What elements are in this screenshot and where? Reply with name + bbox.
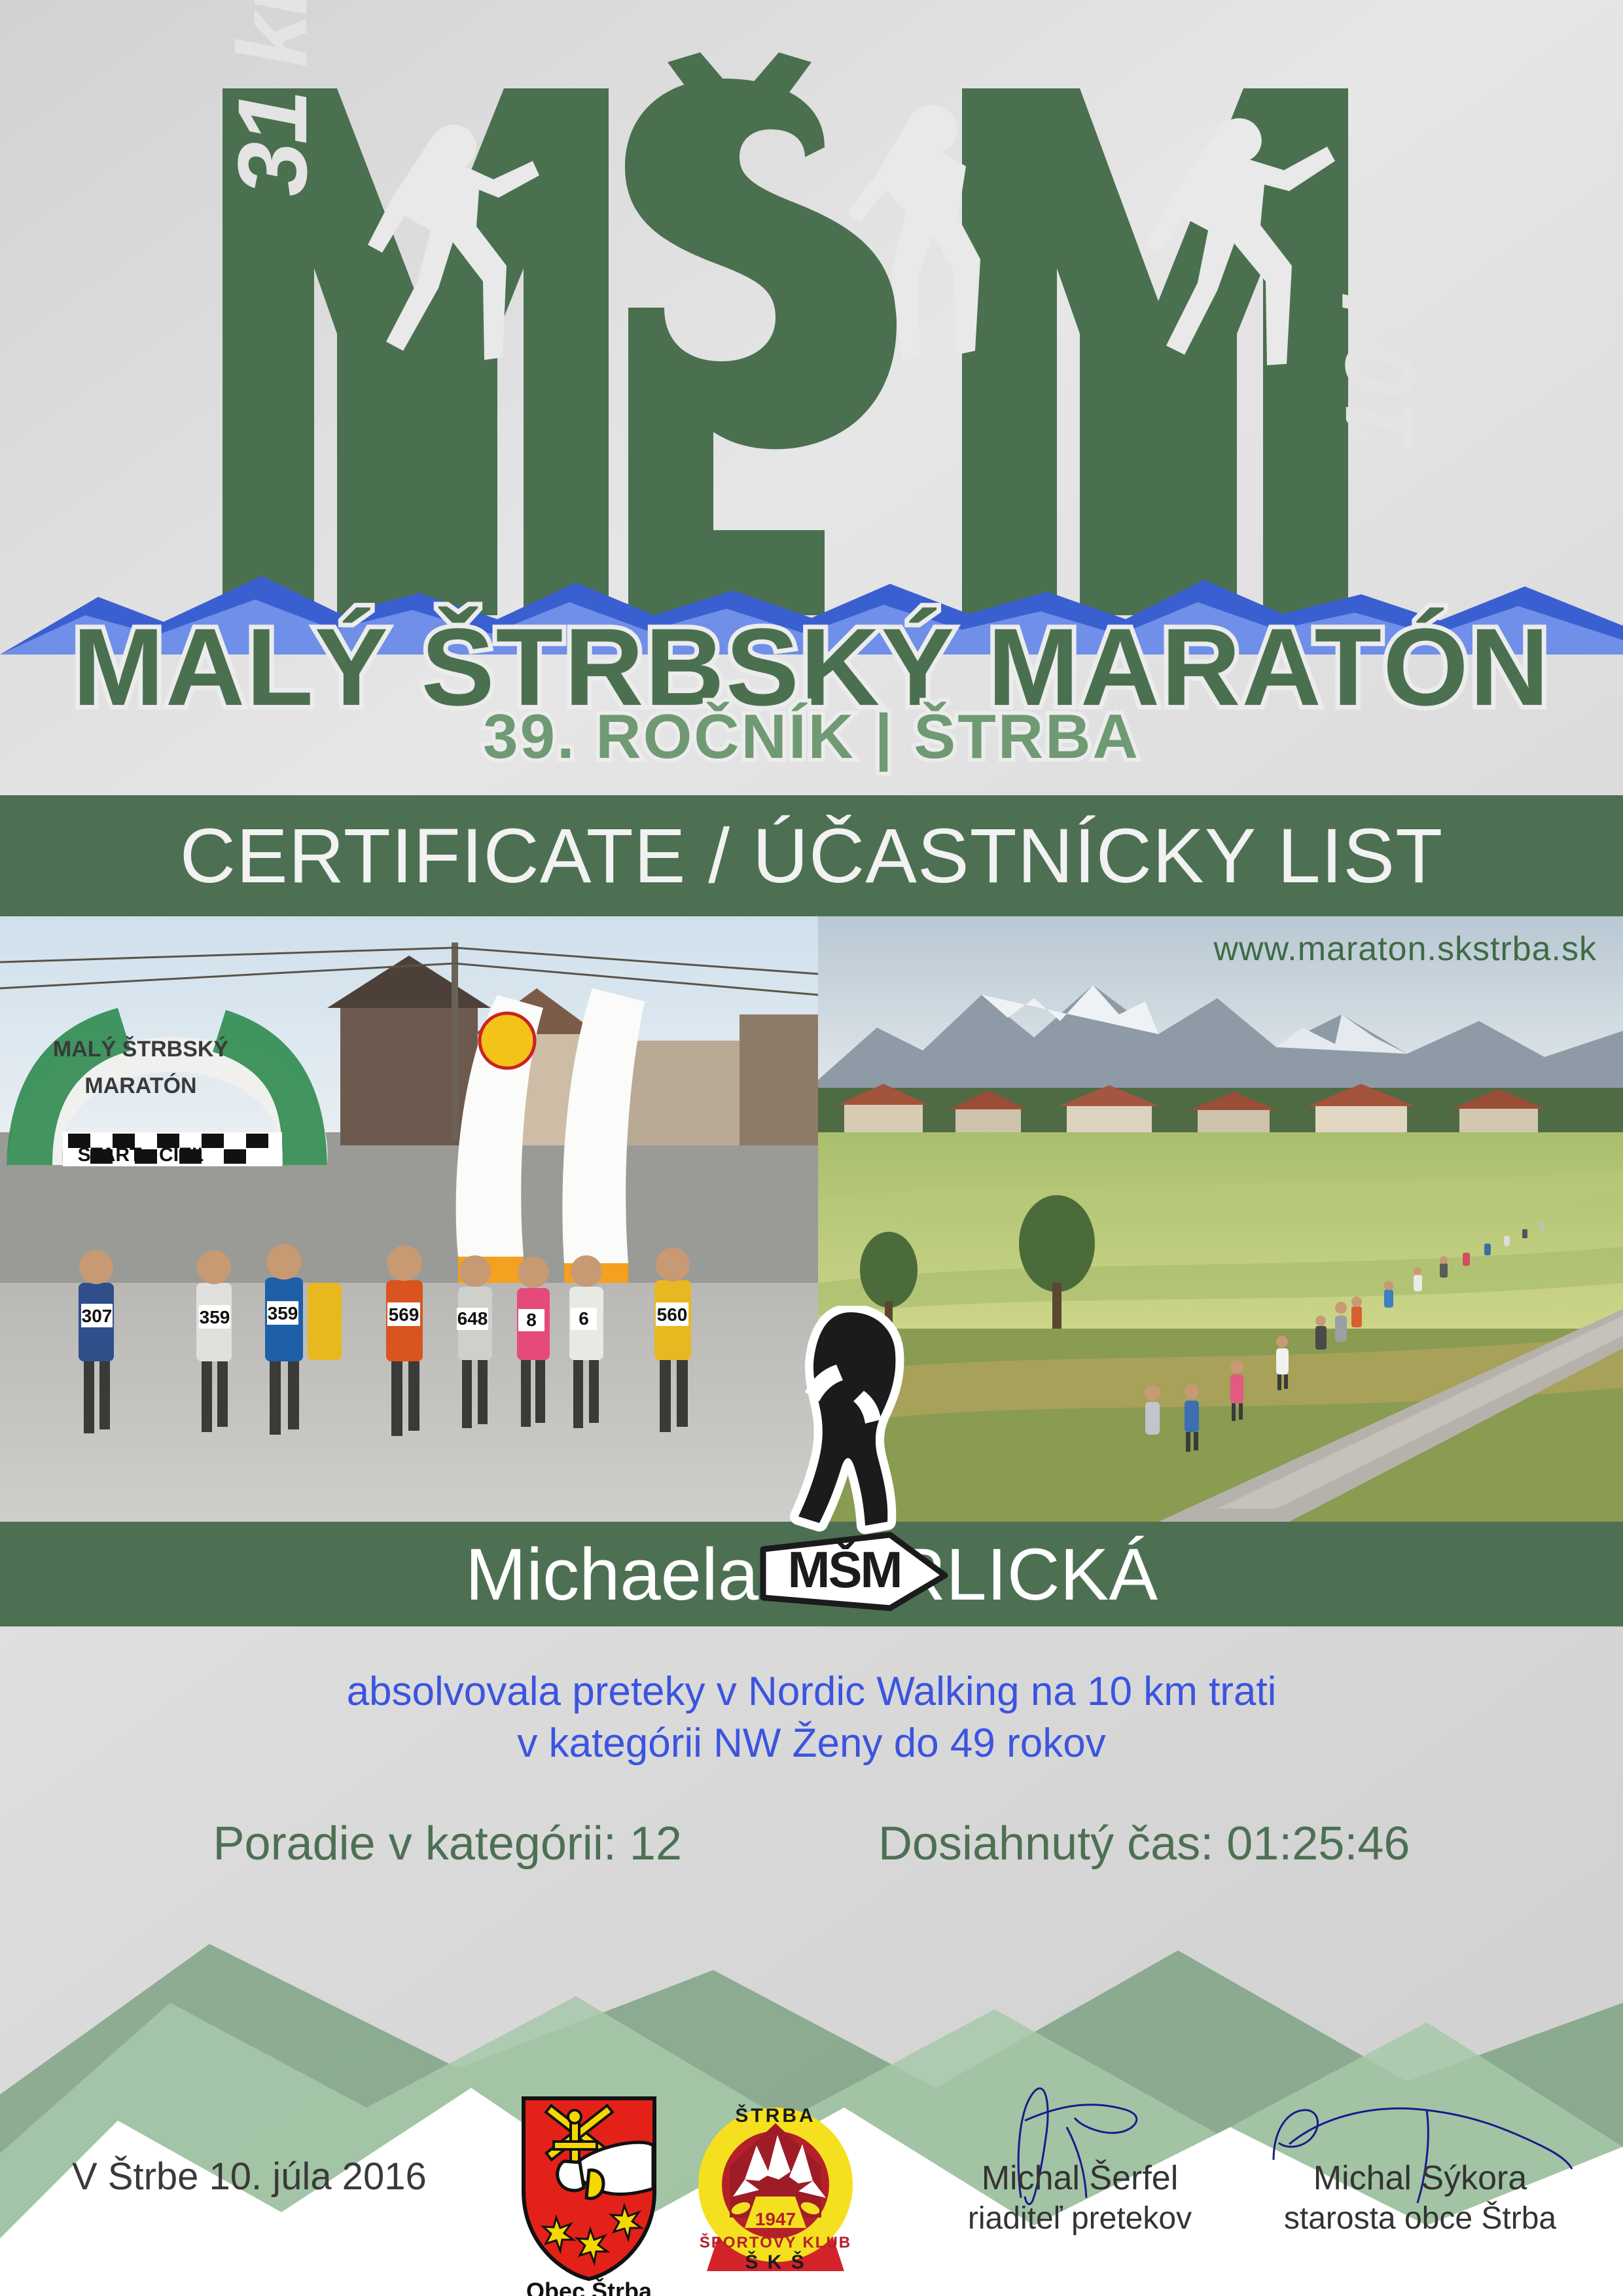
certificate-page: 31 km 10 km MALÝ ŠTRBSKÝ MARATÓN 39. ROČ…: [0, 0, 1623, 2296]
svg-text:359: 359: [268, 1303, 298, 1323]
sks-ring-text: ŠPORTOVÝ KLUB: [700, 2233, 851, 2251]
strba-coat-of-arms-icon: [517, 2093, 661, 2283]
certificate-title-band: CERTIFICATE / ÚČASTNÍCKY LIST: [0, 795, 1623, 916]
msm-logo: 31 km 10 km MALÝ ŠTRBSKÝ MARATÓN 39. ROČ…: [0, 0, 1623, 795]
svg-text:8: 8: [526, 1310, 537, 1330]
description-line-1: absolvovala preteky v Nordic Walking na …: [0, 1666, 1623, 1717]
svg-text:ŠTART - CIEĽ: ŠTART - CIEĽ: [78, 1143, 204, 1166]
sks-club-badge-icon: ŠTRBA 1947 ŠPORTOVÝ KLUB Š K Š: [694, 2093, 857, 2283]
website-url[interactable]: www.maraton.skstrba.sk: [1214, 929, 1597, 969]
certificate-footer: V Štrbe 10. júla 2016 Obec Štrba: [0, 2081, 1623, 2296]
sks-abbrev: Š K Š: [745, 2251, 806, 2273]
results-row: Poradie v kategórii: 12 Dosiahnutý čas: …: [0, 1770, 1623, 1871]
signature-block-mayor: Michal Sýkora starosta obce Štrba: [1211, 2081, 1623, 2296]
svg-text:648: 648: [457, 1308, 488, 1329]
municipality-logo-label: Obec Štrba: [497, 2278, 681, 2296]
distance-right-label: 10 km: [1323, 187, 1436, 452]
logo-header: 31 km 10 km MALÝ ŠTRBSKÝ MARATÓN 39. ROČ…: [0, 0, 1623, 795]
svg-text:560: 560: [657, 1304, 688, 1325]
msm-runner-emblem-icon: MŠM: [759, 1306, 949, 1613]
description-line-2: v kategórii NW Ženy do 49 rokov: [0, 1717, 1623, 1769]
description-block: absolvovala preteky v Nordic Walking na …: [0, 1626, 1623, 1770]
place-and-date: V Štrbe 10. júla 2016: [72, 2155, 427, 2198]
svg-text:MARATÓN: MARATÓN: [84, 1073, 196, 1098]
svg-text:6: 6: [579, 1308, 589, 1329]
start-line-photo: MALÝ ŠTRBSKÝ MARATÓN ŠTART - CIEĽ: [0, 916, 818, 1522]
result-details: absolvovala preteky v Nordic Walking na …: [0, 1626, 1623, 1875]
category-rank: Poradie v kategórii: 12: [213, 1817, 682, 1871]
certificate-title: CERTIFICATE / ÚČASTNÍCKY LIST: [180, 812, 1443, 901]
finish-time: Dosiahnutý čas: 01:25:46: [878, 1817, 1410, 1871]
svg-text:359: 359: [200, 1307, 230, 1327]
sks-top-text: ŠTRBA: [735, 2104, 815, 2126]
signatory-role: starosta obce Štrba: [1211, 2200, 1623, 2236]
msm-monogram-icon: [216, 26, 1414, 615]
svg-text:569: 569: [389, 1304, 419, 1325]
event-subtitle: 39. ROČNÍK | ŠTRBA: [0, 706, 1623, 768]
sks-year: 1947: [755, 2209, 796, 2229]
distance-left-label: 31 km: [216, 0, 329, 196]
signatory-name: Michal Sýkora: [1211, 2159, 1623, 2198]
svg-text:307: 307: [82, 1306, 113, 1326]
svg-text:MŠM: MŠM: [788, 1541, 901, 1598]
svg-text:MALÝ ŠTRBSKÝ: MALÝ ŠTRBSKÝ: [53, 1036, 229, 1062]
